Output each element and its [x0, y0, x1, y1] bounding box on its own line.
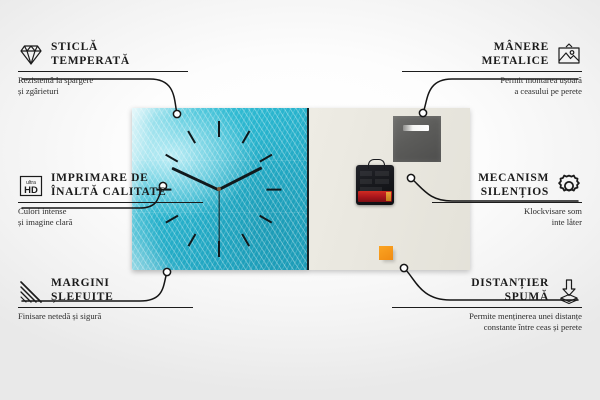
battery-positive-tip: [386, 192, 391, 201]
clock-tick-11: [188, 131, 196, 144]
clock-tick-10: [165, 154, 178, 162]
callout-foam-spacer: DISTANȚIER SPUMĂ Permite menținerea unei…: [392, 277, 582, 332]
arrow-down-onto-surface-icon: [556, 278, 582, 304]
callout-title-line1: STICLĂ: [51, 41, 130, 55]
callout-title-line2: ȘLEFUITE: [51, 291, 113, 305]
clock-tick-5: [242, 234, 250, 247]
clock-tick-1: [242, 131, 250, 144]
ultra-hd-icon: ultra HD: [18, 173, 44, 199]
product-infographic: STICLĂ TEMPERATĂ Rezistentă la spargere …: [0, 0, 600, 400]
callout-title-line2: METALICE: [482, 55, 549, 69]
callout-desc-line2: inte låter: [432, 217, 582, 228]
callout-divider: [18, 71, 188, 72]
callout-title-line1: MÂNERE: [482, 41, 549, 55]
callout-divider: [18, 307, 193, 308]
callout-tempered-glass: STICLĂ TEMPERATĂ Rezistentă la spargere …: [18, 41, 188, 96]
callout-desc-line1: Permite menținerea unei distanțe: [392, 311, 582, 322]
callout-title-line2: SILENȚIOS: [478, 186, 549, 200]
callout-divider: [392, 307, 582, 308]
callout-divider: [18, 202, 203, 203]
callout-desc-line1: Finisare netedă și sigură: [18, 311, 193, 322]
callout-title-line2: TEMPERATĂ: [51, 55, 130, 69]
clock-tick-3: [266, 189, 281, 191]
hanger-keyhole-slot: [403, 125, 429, 131]
callout-title-line1: MECANISM: [478, 172, 549, 186]
callout-title-line2: SPUMĂ: [471, 291, 549, 305]
clock-battery: [358, 191, 392, 202]
gear-icon: [556, 173, 582, 199]
clock-tick-7: [188, 234, 196, 247]
metal-hanger-plate: [393, 116, 441, 162]
callout-desc-line2: și zgârieturi: [18, 86, 188, 97]
callout-desc-line1: Culori intense: [18, 206, 203, 217]
clock-hour-hand: [218, 166, 262, 191]
clock-second-hand: [218, 190, 219, 247]
callout-desc-line1: Rezistentă la spargere: [18, 75, 188, 86]
callout-metal-handles: MÂNERE METALICE Permit montarea ușoară a…: [402, 41, 582, 96]
callout-title-line1: DISTANȚIER: [471, 277, 549, 291]
callout-desc-line2: și imagine clară: [18, 217, 203, 228]
diamond-icon: [18, 42, 44, 68]
clock-tick-12: [218, 121, 220, 137]
clock-tick-2: [259, 154, 272, 162]
foam-spacer-pad: [379, 246, 393, 260]
callout-divider: [432, 202, 582, 203]
callout-title-line2: ÎNALTĂ CALITATE: [51, 186, 166, 200]
polished-edges-icon: [18, 278, 44, 304]
callout-silent-mechanism: MECANISM SILENȚIOS Klockvisare som inte …: [432, 172, 582, 227]
callout-desc-line2: a ceasului pe perete: [402, 86, 582, 97]
callout-title-line1: MARGINI: [51, 277, 113, 291]
callout-desc-line2: constante între ceas și perete: [392, 322, 582, 333]
ultra-hd-icon-main-label: HD: [24, 185, 38, 196]
callout-desc-line1: Permit montarea ușoară: [402, 75, 582, 86]
clock-center-pin: [217, 187, 221, 191]
callout-hd-print: ultra HD IMPRIMARE DE ÎNALTĂ CALITATE Cu…: [18, 172, 203, 227]
picture-frame-hook-icon: [556, 42, 582, 68]
clock-movement-box: [356, 165, 394, 205]
callout-polished-edges: MARGINI ȘLEFUITE Finisare netedă și sigu…: [18, 277, 193, 322]
callout-desc-line1: Klockvisare som: [432, 206, 582, 217]
clock-tick-4: [259, 215, 272, 223]
callout-title-line1: IMPRIMARE DE: [51, 172, 166, 186]
movement-hanger-loop: [368, 159, 385, 169]
callout-divider: [402, 71, 582, 72]
